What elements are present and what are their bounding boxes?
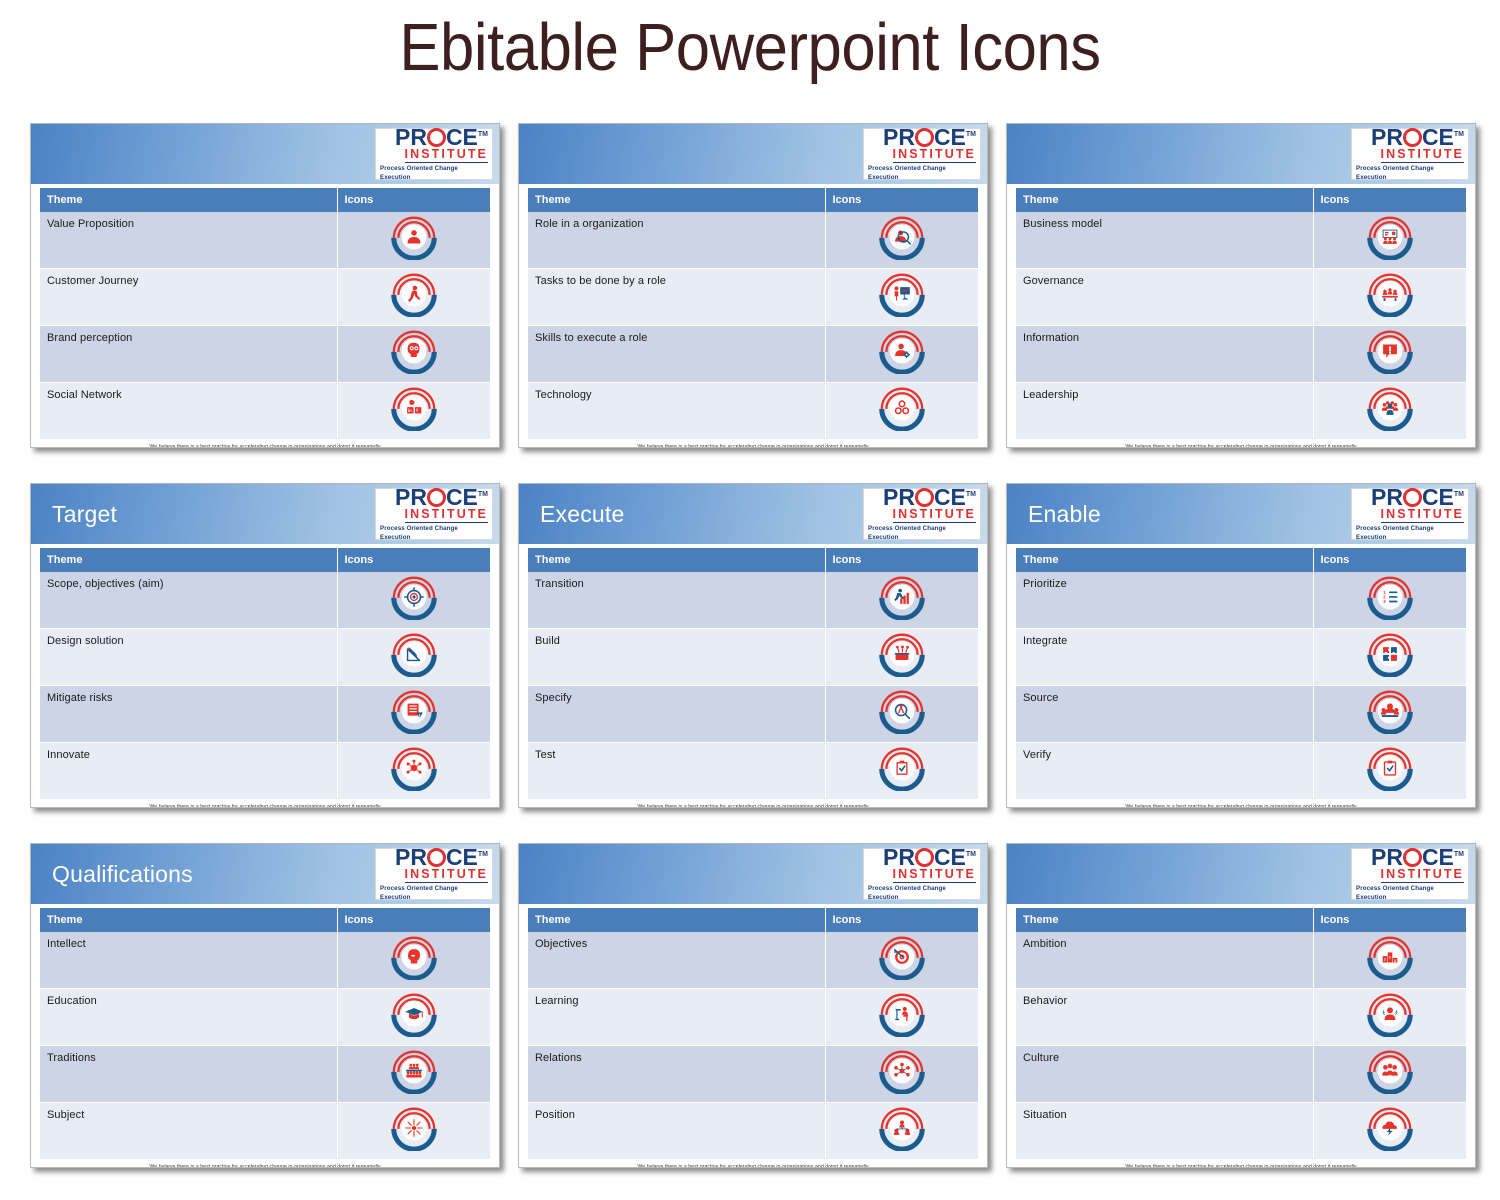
icon-cell[interactable] [825,572,978,629]
theme-label: Brand perception [47,332,337,344]
logo-word-ce: CE [1422,846,1454,868]
table-row[interactable]: Education [40,989,490,1046]
table-row[interactable]: Skills to execute a role [528,326,978,383]
table-row[interactable]: Traditions [40,1046,490,1103]
theme-label: Role in a organization [535,218,825,230]
table-header-row: Theme Icons [1016,188,1466,212]
head-brain-icon[interactable] [338,932,491,982]
boardroom-table-icon[interactable] [1314,269,1467,319]
proce-institute-logo: PRCETM INSTITUTE Process Oriented Change… [375,128,493,180]
logo-trademark: TM [1454,124,1464,146]
theme-cell: Test [528,743,825,800]
slide-body: Theme Icons Objectives [519,904,987,1160]
themes-table: Theme Icons Role in a organization [528,188,978,440]
slide-grid: PRCETM INSTITUTE Process Oriented Change… [30,123,1478,1168]
logo-word-pr: PR [883,126,915,148]
logo-institute: INSTITUTE [405,148,488,163]
proce-institute-logo: PRCETM INSTITUTE Process Oriented Change… [1351,848,1469,900]
theme-label: Information [1023,332,1313,344]
logo-word-ce: CE [446,846,478,868]
dartboard-arrow-icon[interactable] [826,932,979,982]
slide-header: Target PRCETM INSTITUTE Process Oriented… [31,484,499,544]
logo-trademark: TM [478,484,488,506]
column-header-icons: Icons [1313,908,1466,932]
slide-card[interactable]: Qualifications PRCETM INSTITUTE Process … [30,843,500,1168]
icon-cell[interactable] [825,269,978,326]
theme-label: Scope, objectives (aim) [47,578,337,590]
theme-label: Behavior [1023,995,1313,1007]
theme-label: Build [535,635,825,647]
icon-cell[interactable] [337,269,490,326]
theme-label: Objectives [535,938,825,950]
theme-label: Traditions [47,1052,337,1064]
themes-table: Theme Icons Objectives [528,908,978,1160]
social-media-icon[interactable]: inf [338,383,491,433]
table-row[interactable]: Objectives [528,932,978,989]
logo-tagline: Process Oriented Change Execution [1356,164,1464,182]
theme-label: Education [47,995,337,1007]
leader-group-icon[interactable] [1314,383,1467,433]
icon-cell[interactable] [1313,269,1466,326]
logo-word-ce: CE [1422,486,1454,508]
svg-text:3: 3 [1394,959,1396,963]
theme-cell: Source [1016,686,1313,743]
runner-chart-icon[interactable] [826,572,979,622]
slide-title: Execute [540,501,625,528]
slide-header: PRCETM INSTITUTE Process Oriented Change… [31,124,499,184]
theme-cell: Culture [1016,1046,1313,1103]
icon-cell[interactable] [1313,686,1466,743]
logo-o-ring-icon [915,128,934,147]
icon-cell[interactable] [1313,326,1466,383]
theme-label: Skills to execute a role [535,332,825,344]
column-header-theme: Theme [528,548,825,572]
theme-cell: Business model [1016,212,1313,269]
themes-table: Theme Icons Scope, objectives (aim) [40,548,490,800]
column-header-theme: Theme [1016,188,1313,212]
logo-wordmark: PRCETM [395,846,488,868]
themes-table: Theme Icons Transition [528,548,978,800]
column-header-theme: Theme [40,548,337,572]
column-header-theme: Theme [528,908,825,932]
icon-cell[interactable] [337,1046,490,1103]
column-header-icons: Icons [825,908,978,932]
icon-cell[interactable]: 213 [1313,932,1466,989]
theme-label: Mitigate risks [47,692,337,704]
theme-label: Position [535,1109,825,1121]
clipboard-check-icon[interactable] [826,743,979,793]
table-row[interactable]: Innovate [40,743,490,800]
icon-cell[interactable] [1313,212,1466,269]
slide-footer: We believe there is a best practice for … [31,1160,499,1168]
icon-cell[interactable] [825,1046,978,1103]
network-nodes-icon[interactable] [826,1046,979,1096]
table-row[interactable]: Source [1016,686,1466,743]
ruler-pencil-icon[interactable] [338,629,491,679]
theme-cell: Mitigate risks [40,686,337,743]
slide-card[interactable]: PRCETM INSTITUTE Process Oriented Change… [1006,843,1476,1168]
crosshair-target-icon[interactable] [338,572,491,622]
column-header-icons: Icons [825,548,978,572]
theme-cell: Specify [528,686,825,743]
icon-cell[interactable]: inf [337,383,490,440]
icon-cell[interactable] [825,629,978,686]
icon-cell[interactable] [825,686,978,743]
theme-label: Ambition [1023,938,1313,950]
table-row[interactable]: Prioritize 123 [1016,572,1466,629]
slide-header: Execute PRCETM INSTITUTE Process Oriente… [519,484,987,544]
slide-card[interactable]: PRCETM INSTITUTE Process Oriented Change… [518,843,988,1168]
slide-card[interactable]: PRCETM INSTITUTE Process Oriented Change… [30,123,500,448]
logo-word-pr: PR [883,486,915,508]
theme-cell: Build [528,629,825,686]
theme-cell: Value Proposition [40,212,337,269]
slide-card[interactable]: PRCETM INSTITUTE Process Oriented Change… [1006,123,1476,448]
cloud-lightning-icon[interactable] [1314,1103,1467,1153]
theme-label: Culture [1023,1052,1313,1064]
theme-label: Technology [535,389,825,401]
logo-tagline: Process Oriented Change Execution [380,164,488,182]
slide-footer: We believe there is a best practice for … [1007,1160,1475,1168]
table-row[interactable]: Governance [1016,269,1466,326]
themes-table: Theme Icons Intellect [40,908,490,1160]
numbered-list-icon[interactable]: 123 [1314,572,1467,622]
icon-cell[interactable] [825,743,978,800]
icon-cell[interactable] [825,1103,978,1160]
icon-cell[interactable] [337,326,490,383]
icon-cell[interactable] [825,989,978,1046]
slide-card[interactable]: Enable PRCETM INSTITUTE Process Oriented… [1006,483,1476,808]
theme-cell: Transition [528,572,825,629]
table-row[interactable]: Leadership [1016,383,1466,440]
logo-institute: INSTITUTE [1381,148,1464,163]
proce-institute-logo: PRCETM INSTITUTE Process Oriented Change… [1351,488,1469,540]
theme-cell: Education [40,989,337,1046]
icon-cell[interactable] [825,383,978,440]
slide-body: Theme Icons Business model [1007,184,1475,440]
table-row[interactable]: Tasks to be done by a role [528,269,978,326]
table-row[interactable]: Customer Journey [40,269,490,326]
theme-cell: Objectives [528,932,825,989]
head-eyes-icon[interactable] [338,326,491,376]
themes-table: Theme Icons Business model [1016,188,1466,440]
logo-trademark: TM [1454,484,1464,506]
slide-body: Theme Icons Prioritize 123 [1007,544,1475,800]
toolbox-icon[interactable] [826,629,979,679]
table-row[interactable]: Role in a organization [528,212,978,269]
icon-cell[interactable] [1313,1103,1466,1160]
presenter-board-icon[interactable] [826,269,979,319]
slide-footer: We believe there is a best practice for … [519,800,987,808]
logo-wordmark: PRCETM [883,126,976,148]
logo-institute: INSTITUTE [1381,868,1464,883]
column-header-icons: Icons [825,188,978,212]
slide-card[interactable]: Execute PRCETM INSTITUTE Process Oriente… [518,483,988,808]
theme-cell: Tasks to be done by a role [528,269,825,326]
slide-body: Theme Icons Scope, objectives (aim) [31,544,499,800]
column-header-icons: Icons [337,908,490,932]
table-row[interactable]: Intellect [40,932,490,989]
clipboard-verify-icon[interactable] [1314,743,1467,793]
slide-footer: We believe there is a best practice for … [31,440,499,448]
column-header-icons: Icons [1313,548,1466,572]
table-row[interactable]: Ambition 213 [1016,932,1466,989]
theme-label: Intellect [47,938,337,950]
slide-card[interactable]: Target PRCETM INSTITUTE Process Oriented… [30,483,500,808]
logo-institute: INSTITUTE [405,868,488,883]
logo-trademark: TM [966,844,976,866]
converge-arrows-icon[interactable] [338,1103,491,1153]
proce-institute-logo: PRCETM INSTITUTE Process Oriented Change… [863,128,981,180]
icon-cell[interactable] [337,572,490,629]
theme-cell: Skills to execute a role [528,326,825,383]
table-row[interactable]: Situation [1016,1103,1466,1160]
logo-o-ring-icon [1403,488,1422,507]
person-magnifier-icon[interactable] [826,212,979,262]
slide-body: Theme Icons Value Proposition [31,184,499,440]
theme-cell: Role in a organization [528,212,825,269]
table-header-row: Theme Icons [40,548,490,572]
logo-tagline: Process Oriented Change Execution [868,164,976,182]
table-row[interactable]: Scope, objectives (aim) [40,572,490,629]
table-row[interactable]: Culture [1016,1046,1466,1103]
logo-word-pr: PR [395,126,427,148]
logo-o-ring-icon [1403,128,1422,147]
logo-o-ring-icon [427,128,446,147]
theme-label: Social Network [47,389,337,401]
theme-label: Governance [1023,275,1313,287]
puzzle-icon[interactable] [1314,629,1467,679]
student-desk-icon[interactable] [826,989,979,1039]
org-position-icon[interactable] [826,1103,979,1153]
table-row[interactable]: Build [528,629,978,686]
icon-cell[interactable] [1313,383,1466,440]
logo-tagline: Process Oriented Change Execution [380,884,488,902]
logo-trademark: TM [966,124,976,146]
svg-text:3: 3 [1383,599,1386,604]
theme-cell: Situation [1016,1103,1313,1160]
column-header-icons: Icons [337,188,490,212]
logo-wordmark: PRCETM [395,486,488,508]
proce-institute-logo: PRCETM INSTITUTE Process Oriented Change… [375,848,493,900]
logo-trademark: TM [478,844,488,866]
theme-cell: Behavior [1016,989,1313,1046]
theme-cell: Learning [528,989,825,1046]
table-row[interactable]: Information [1016,326,1466,383]
theme-label: Situation [1023,1109,1313,1121]
column-header-icons: Icons [337,548,490,572]
theme-label: Value Proposition [47,218,337,230]
logo-wordmark: PRCETM [883,486,976,508]
molecule-idea-icon[interactable] [338,743,491,793]
svg-text:2: 2 [1384,958,1386,962]
table-header-row: Theme Icons [1016,548,1466,572]
logo-o-ring-icon [915,848,934,867]
icon-cell[interactable] [337,212,490,269]
svg-text:in: in [408,408,412,413]
theme-label: Verify [1023,749,1313,761]
table-row[interactable]: Specify [528,686,978,743]
slide-header: PRCETM INSTITUTE Process Oriented Change… [519,124,987,184]
theme-cell: Design solution [40,629,337,686]
walking-person-icon[interactable] [338,269,491,319]
logo-o-ring-icon [427,848,446,867]
slide-header: PRCETM INSTITUTE Process Oriented Change… [1007,124,1475,184]
icon-cell[interactable] [825,932,978,989]
slide-footer: We believe there is a best practice for … [519,440,987,448]
icon-cell[interactable] [337,932,490,989]
table-row[interactable]: Test [528,743,978,800]
logo-trademark: TM [966,484,976,506]
table-row[interactable]: Relations [528,1046,978,1103]
icon-cell[interactable] [337,989,490,1046]
logo-wordmark: PRCETM [1371,486,1464,508]
icon-cell[interactable] [337,1103,490,1160]
theme-label: Design solution [47,635,337,647]
table-header-row: Theme Icons [528,188,978,212]
table-row[interactable]: Value Proposition [40,212,490,269]
slide-footer: We believe there is a best practice for … [31,800,499,808]
slide-body: Theme Icons Ambition 213 [1007,904,1475,1160]
logo-trademark: TM [1454,844,1464,866]
icon-cell[interactable] [825,326,978,383]
icon-cell[interactable] [337,743,490,800]
icon-cell[interactable] [1313,1046,1466,1103]
logo-tagline: Process Oriented Change Execution [380,524,488,542]
logo-word-pr: PR [1371,126,1403,148]
column-header-theme: Theme [1016,548,1313,572]
logo-wordmark: PRCETM [883,846,976,868]
logo-tagline: Process Oriented Change Execution [868,524,976,542]
table-header-row: Theme Icons [1016,908,1466,932]
proce-institute-logo: PRCETM INSTITUTE Process Oriented Change… [375,488,493,540]
svg-text:1: 1 [1389,955,1391,959]
table-header-row: Theme Icons [528,908,978,932]
theme-cell: Social Network [40,383,337,440]
icon-cell[interactable] [337,629,490,686]
icon-cell[interactable] [1313,743,1466,800]
icon-cell[interactable] [825,212,978,269]
exclamation-bubble-icon[interactable] [1314,326,1467,376]
table-row[interactable]: Behavior [1016,989,1466,1046]
theme-cell: Technology [528,383,825,440]
person-value-icon[interactable] [338,212,491,262]
page-title: Ebitable Powerpoint Icons [60,0,1440,90]
theme-cell: Traditions [40,1046,337,1103]
slide-card[interactable]: PRCETM INSTITUTE Process Oriented Change… [518,123,988,448]
logo-institute: INSTITUTE [893,508,976,523]
table-row[interactable]: Social Network inf [40,383,490,440]
logo-word-ce: CE [934,126,966,148]
slide-footer: We believe there is a best practice for … [1007,800,1475,808]
meeting-screen-icon[interactable] [1314,212,1467,262]
theme-label: Integrate [1023,635,1313,647]
logo-institute: INSTITUTE [893,868,976,883]
logo-word-pr: PR [395,486,427,508]
logo-trademark: TM [478,124,488,146]
theme-cell: Ambition [1016,932,1313,989]
people-group-icon[interactable] [1314,1046,1467,1096]
theme-cell: Relations [528,1046,825,1103]
logo-word-pr: PR [883,846,915,868]
people-source-icon[interactable] [1314,686,1467,736]
logo-tagline: Process Oriented Change Execution [868,884,976,902]
table-row[interactable]: Learning [528,989,978,1046]
icon-cell[interactable]: 123 [1313,572,1466,629]
slide-body: Theme Icons Intellect [31,904,499,1160]
themes-table: Theme Icons Value Proposition [40,188,490,440]
slide-body: Theme Icons Role in a organization [519,184,987,440]
icon-cell[interactable] [337,686,490,743]
logo-o-ring-icon [915,488,934,507]
logo-word-ce: CE [1422,126,1454,148]
theme-cell: Verify [1016,743,1313,800]
theme-label: Business model [1023,218,1313,230]
risk-list-warning-icon[interactable] [338,686,491,736]
theme-label: Innovate [47,749,337,761]
table-row[interactable]: Position [528,1103,978,1160]
theme-label: Prioritize [1023,578,1313,590]
table-row[interactable]: Subject [40,1103,490,1160]
person-energy-icon[interactable] [1314,989,1467,1039]
theme-cell: Innovate [40,743,337,800]
theme-cell: Intellect [40,932,337,989]
theme-label: Transition [535,578,825,590]
theme-cell: Governance [1016,269,1313,326]
table-header-row: Theme Icons [40,188,490,212]
icon-cell[interactable] [1313,629,1466,686]
table-row[interactable]: Mitigate risks [40,686,490,743]
icon-cell[interactable] [1313,989,1466,1046]
table-row[interactable]: Brand perception [40,326,490,383]
person-gear-icon[interactable] [826,326,979,376]
theme-cell: Integrate [1016,629,1313,686]
column-header-theme: Theme [1016,908,1313,932]
theme-label: Test [535,749,825,761]
table-header-row: Theme Icons [40,908,490,932]
podium-ranking-icon[interactable]: 213 [1314,932,1467,982]
theme-label: Subject [47,1109,337,1121]
logo-word-ce: CE [446,486,478,508]
theme-label: Learning [535,995,825,1007]
compass-magnifier-icon[interactable] [826,686,979,736]
logo-tagline: Process Oriented Change Execution [1356,884,1464,902]
table-row[interactable]: Business model [1016,212,1466,269]
slide-header: PRCETM INSTITUTE Process Oriented Change… [519,844,987,904]
table-header-row: Theme Icons [528,548,978,572]
table-row[interactable]: Design solution [40,629,490,686]
gears-icon[interactable] [826,383,979,433]
logo-institute: INSTITUTE [1381,508,1464,523]
logo-word-ce: CE [446,126,478,148]
table-row[interactable]: Transition [528,572,978,629]
table-row[interactable]: Integrate [1016,629,1466,686]
slide-footer: We believe there is a best practice for … [519,1160,987,1168]
logo-wordmark: PRCETM [1371,846,1464,868]
table-row[interactable]: Technology [528,383,978,440]
logo-word-ce: CE [934,846,966,868]
graduation-cap-icon[interactable] [338,989,491,1039]
theme-cell: Prioritize [1016,572,1313,629]
slide-body: Theme Icons Transition [519,544,987,800]
theme-cell: Scope, objectives (aim) [40,572,337,629]
column-header-theme: Theme [528,188,825,212]
logo-word-pr: PR [395,846,427,868]
proce-institute-logo: PRCETM INSTITUTE Process Oriented Change… [863,848,981,900]
theme-cell: Information [1016,326,1313,383]
audience-rows-icon[interactable] [338,1046,491,1096]
table-row[interactable]: Verify [1016,743,1466,800]
